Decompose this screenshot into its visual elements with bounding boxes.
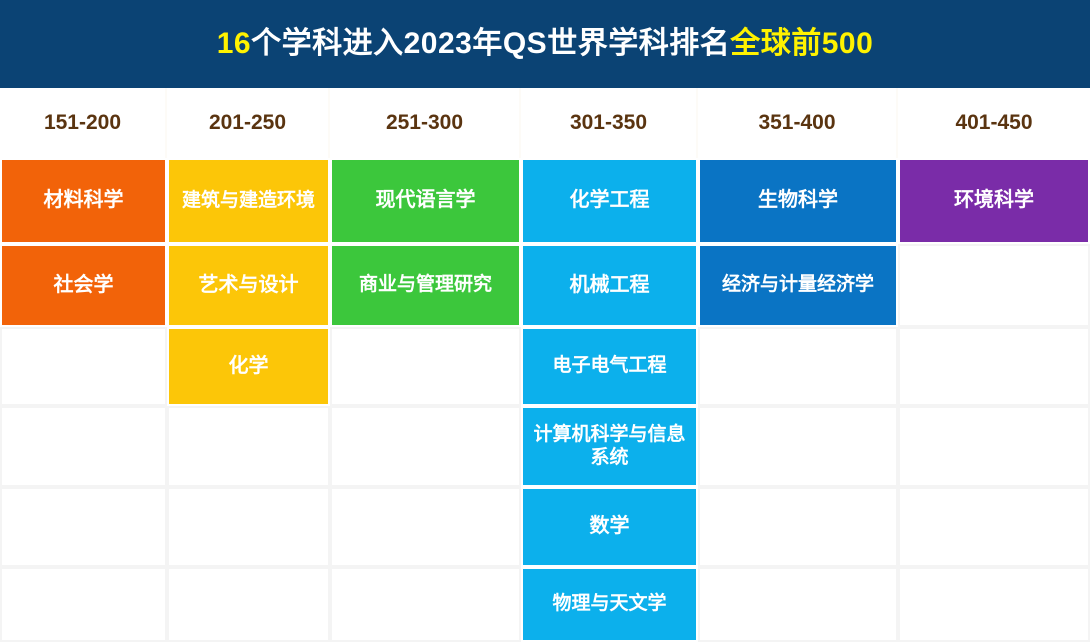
empty-cell (698, 327, 898, 406)
title-banner: 16个学科进入2023年QS世界学科排名全球前500 (0, 0, 1090, 88)
title-count: 16 (217, 27, 251, 60)
ranking-table: 151-200 201-250 251-300 301-350 351-400 … (0, 88, 1090, 642)
column-header-201-250: 201-250 (167, 88, 330, 158)
column-header-401-450: 401-450 (898, 88, 1090, 158)
empty-cell (0, 327, 167, 406)
column-header-151-200: 151-200 (0, 88, 167, 158)
empty-cell (330, 327, 521, 406)
subject-cell: 艺术与设计 (167, 244, 330, 327)
subject-cell: 商业与管理研究 (330, 244, 521, 327)
empty-cell (0, 567, 167, 642)
subject-cell: 经济与计量经济学 (698, 244, 898, 327)
subject-cell: 材料科学 (0, 158, 167, 244)
empty-cell (167, 406, 330, 487)
empty-cell (698, 487, 898, 567)
empty-cell (698, 406, 898, 487)
empty-cell (898, 406, 1090, 487)
empty-cell (898, 244, 1090, 327)
qs-subject-ranking-board: 16个学科进入2023年QS世界学科排名全球前500 151-200 201-2… (0, 0, 1090, 642)
empty-cell (698, 567, 898, 642)
empty-cell (0, 406, 167, 487)
empty-cell (898, 567, 1090, 642)
subject-cell: 计算机科学与信息系统 (521, 406, 698, 487)
subject-cell: 环境科学 (898, 158, 1090, 244)
subject-cell: 化学 (167, 327, 330, 406)
title-middle: 个学科进入2023年QS世界学科排名 (251, 27, 730, 60)
empty-cell (0, 487, 167, 567)
empty-cell (167, 487, 330, 567)
empty-cell (167, 567, 330, 642)
subject-cell: 物理与天文学 (521, 567, 698, 642)
column-header-301-350: 301-350 (521, 88, 698, 158)
subject-cell: 数学 (521, 487, 698, 567)
column-header-251-300: 251-300 (330, 88, 521, 158)
empty-cell (898, 487, 1090, 567)
empty-cell (330, 567, 521, 642)
subject-cell: 生物科学 (698, 158, 898, 244)
page-title: 16个学科进入2023年QS世界学科排名全球前500 (217, 29, 874, 59)
subject-cell: 建筑与建造环境 (167, 158, 330, 244)
title-suffix: 全球前500 (730, 27, 873, 60)
subject-cell: 机械工程 (521, 244, 698, 327)
empty-cell (330, 406, 521, 487)
subject-cell: 化学工程 (521, 158, 698, 244)
empty-cell (898, 327, 1090, 406)
empty-cell (330, 487, 521, 567)
subject-cell: 社会学 (0, 244, 167, 327)
column-header-351-400: 351-400 (698, 88, 898, 158)
subject-cell: 电子电气工程 (521, 327, 698, 406)
subject-cell: 现代语言学 (330, 158, 521, 244)
